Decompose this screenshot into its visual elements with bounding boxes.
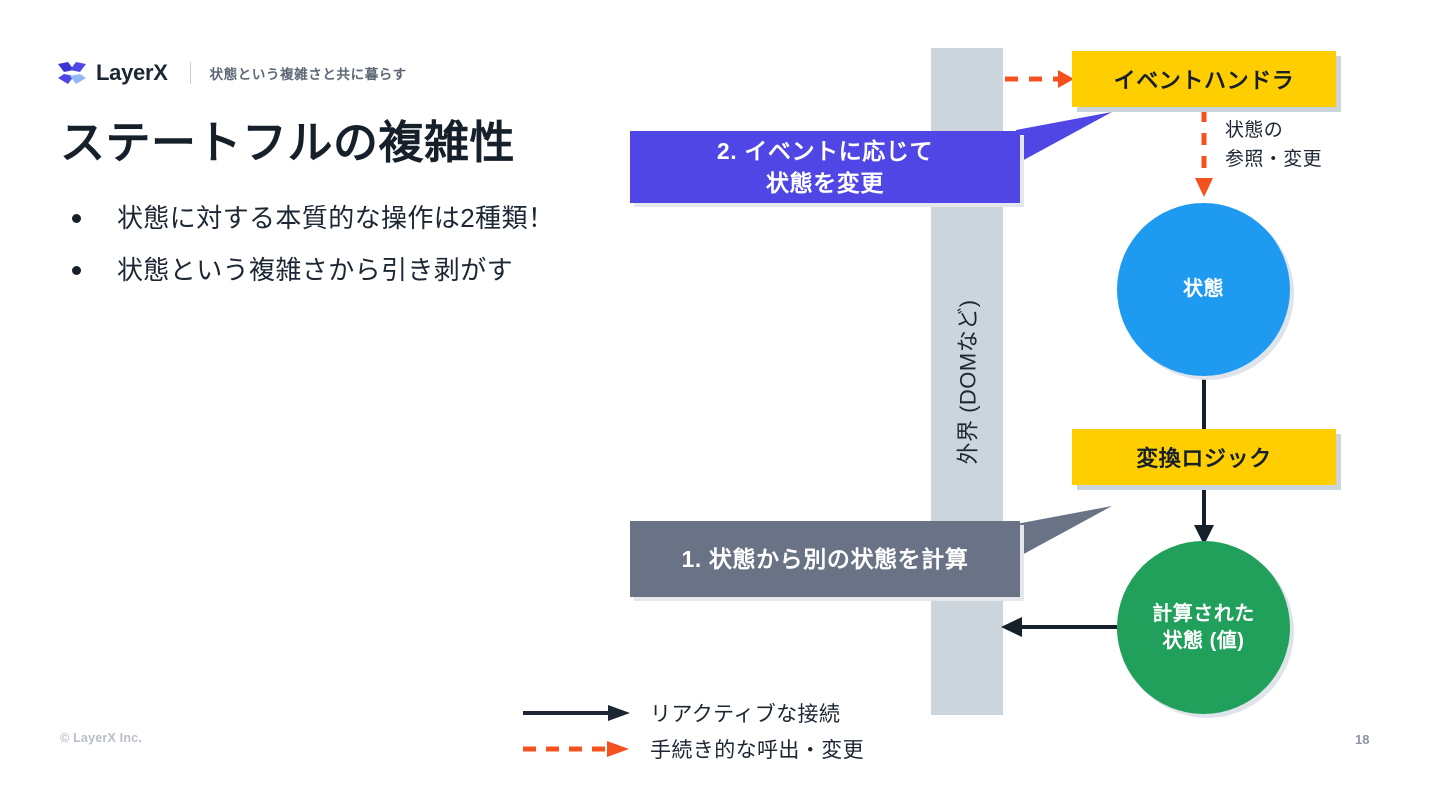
- callout-compute-state: 1. 状態から別の状態を計算: [630, 521, 1020, 597]
- node-transform-logic: 変換ロジック: [1072, 429, 1336, 485]
- state-flow-diagram: 外界 (DOMなど): [0, 0, 1440, 810]
- node-state: 状態: [1117, 203, 1290, 376]
- legend-item-reactive: リアクティブな接続: [523, 695, 864, 731]
- legend-label: 手続き的な呼出・変更: [650, 734, 864, 764]
- dashed-arrow-icon: [523, 739, 631, 759]
- dashed-arrow-handler-to-state: [1195, 110, 1213, 197]
- solid-arrow-logic-to-derived: [1194, 486, 1214, 545]
- dashed-arrow-boundary-to-handler: [1005, 70, 1074, 88]
- node-event-handler: イベントハンドラ: [1072, 51, 1336, 107]
- slide-canvas: LayerX 状態という複雑さと共に暮らす ステートフルの複雑性 状態に対する本…: [0, 0, 1440, 810]
- legend-label: リアクティブな接続: [650, 698, 840, 728]
- edge-label-line2: 参照・変更: [1225, 146, 1322, 175]
- node-transform-logic-label: 変換ロジック: [1136, 441, 1272, 473]
- node-derived-state-line2: 状態 (値): [1152, 628, 1255, 655]
- callout-compute-state-line1: 1. 状態から別の状態を計算: [682, 543, 969, 575]
- solid-arrow-derived-to-boundary: [1001, 617, 1117, 637]
- legend-item-procedural: 手続き的な呼出・変更: [523, 731, 864, 767]
- edge-label-state-access: 状態の 参照・変更: [1225, 117, 1322, 174]
- node-derived-state: 計算された 状態 (値): [1117, 541, 1290, 714]
- node-event-handler-label: イベントハンドラ: [1114, 63, 1295, 95]
- callout-change-state-line2: 状態を変更: [717, 167, 933, 199]
- footer-copyright: © LayerX Inc.: [60, 731, 142, 745]
- edge-label-line1: 状態の: [1225, 117, 1322, 146]
- node-derived-state-line1: 計算された: [1152, 601, 1255, 628]
- callout-change-state-line1: 2. イベントに応じて: [717, 135, 933, 167]
- page-number: 18: [1355, 732, 1369, 747]
- diagram-legend: リアクティブな接続 手続き的な呼出・変更: [523, 695, 864, 767]
- callout-change-state: 2. イベントに応じて 状態を変更: [630, 131, 1020, 203]
- node-state-label: 状態: [1183, 276, 1224, 303]
- solid-arrow-icon: [523, 703, 631, 723]
